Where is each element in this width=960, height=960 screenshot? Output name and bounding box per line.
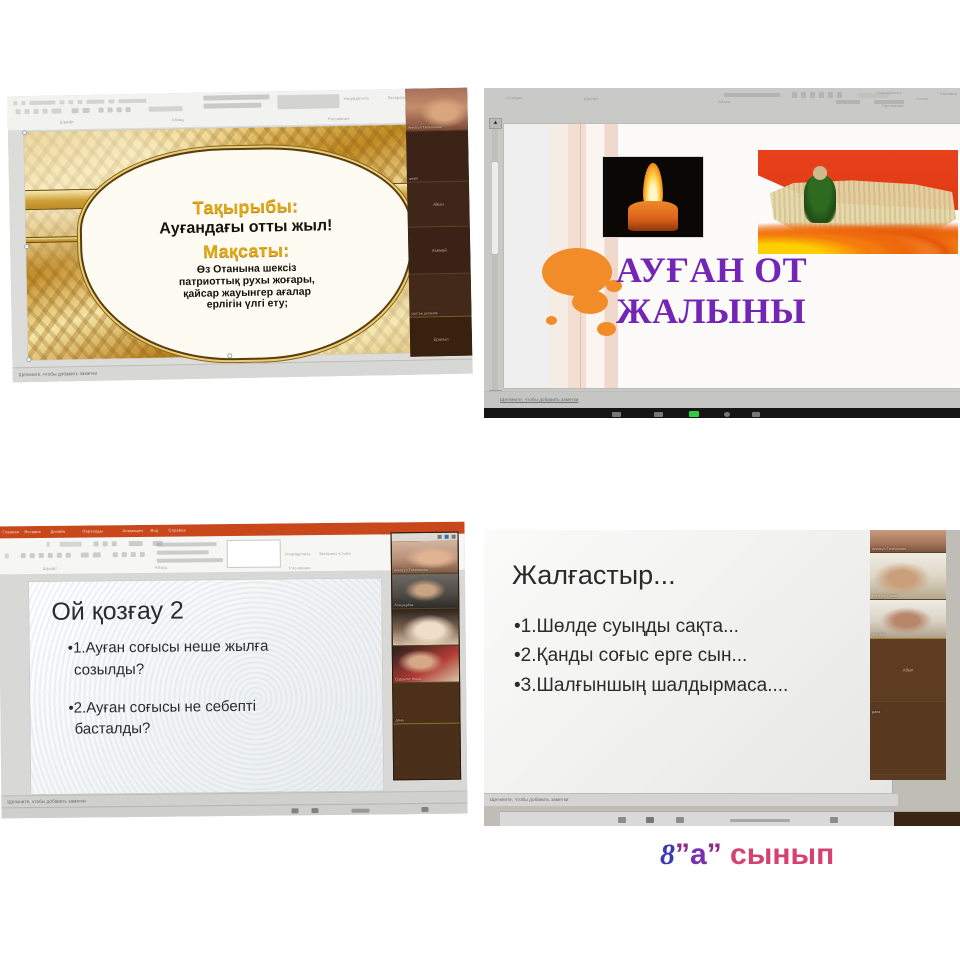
powerpoint-window-4: Жалғастыр... •1.Шөлде суыңды сақта... •2… <box>484 530 960 826</box>
fill-button-2[interactable]: Заливка <box>940 91 957 96</box>
ribbon-tab-animation[interactable]: Анимация <box>123 528 143 533</box>
taskbar-icon-circle[interactable] <box>724 412 730 417</box>
ribbon-tab-design[interactable]: Дизайн <box>51 529 66 534</box>
participant-name: Жандос <box>872 633 885 637</box>
notes-placeholder-1: Щелкните, чтобы добавить заметки <box>19 371 98 378</box>
taskbar-icon-view-sorter[interactable] <box>646 817 654 823</box>
participant-video <box>870 553 946 599</box>
notes-bar-1[interactable]: Щелкните, чтобы добавить заметки <box>12 359 472 383</box>
participant-tile[interactable]: Ерназар Самат <box>870 553 946 600</box>
ribbon-tab-insert[interactable]: Вставка <box>25 529 41 534</box>
participant-tile[interactable]: Айын <box>392 609 458 647</box>
decor-circle-medium <box>572 290 608 314</box>
decor-circle-large <box>542 248 612 296</box>
scroll-up-button-2[interactable]: ▲ <box>489 118 502 129</box>
taskbar-icon-fit-window[interactable] <box>830 817 838 823</box>
slide2-title-line-2: ЖАЛЫНЫ <box>616 293 807 330</box>
participant-name: Аннагүл Төлегенова <box>394 568 428 572</box>
slide3-list-item-1-cont: созылды? <box>68 657 269 681</box>
candle-photo <box>602 156 704 238</box>
ribbon-group-label-slides: Слайды <box>506 95 522 100</box>
slide4-list: •1.Шөлде суыңды сақта... •2.Қанды соғыс … <box>514 612 788 700</box>
caption-word: сынып <box>730 838 834 871</box>
participant-tile[interactable]: Аннагүл Төлегенова <box>392 541 458 575</box>
ribbon-group-label-paragraph: Абзац <box>718 99 730 104</box>
minimize-icon[interactable] <box>438 535 442 539</box>
taskbar-icon-view-normal[interactable] <box>291 808 298 813</box>
participant-tile[interactable]: Жандос <box>870 600 946 639</box>
participants-panel-1: Аннагүл Төлегенова шерті Айын Асемай сул… <box>405 88 472 357</box>
ribbon-tab-transitions[interactable]: Переходы <box>83 528 103 533</box>
taskbar-icon-view-sorter[interactable] <box>311 808 318 813</box>
fire-flames-icon <box>758 217 958 254</box>
participant-name: шерті <box>409 177 418 181</box>
arrange-button-1[interactable]: Упорядочить <box>343 95 369 100</box>
taskbar-icon-slideshow[interactable] <box>676 817 684 823</box>
participant-name: дана <box>872 710 880 714</box>
ribbon-group-label-paragraph-3: Абзац <box>155 565 167 570</box>
slide3-list-item-1: •1.Ауған соғысы неше жылға <box>68 636 269 660</box>
participant-name: Аннагүл Төлегенова <box>408 125 442 130</box>
bullet-icon: • <box>514 645 521 666</box>
slide2-title: АУҒАН ОТ ЖАЛЫНЫ <box>616 252 807 329</box>
taskbar-icon-clock[interactable] <box>612 412 621 417</box>
participant-name: Аннагүл Төлегенова <box>872 547 906 551</box>
slide1-goal-label: Мақсаты: <box>203 240 290 263</box>
slide4-list-item-1: •1.Шөлде суыңды сақта... <box>514 612 788 641</box>
slide2-title-line-1: АУҒАН ОТ <box>616 252 807 289</box>
participants-panel-4: Аннагүл Төлегенова Ерназар Самат Жандос … <box>870 530 946 780</box>
taskbar-overlap-dark <box>894 812 960 826</box>
participant-name: дана <box>396 718 404 722</box>
notes-bar-4[interactable]: Щелкните, чтобы добавить заметки <box>484 793 898 806</box>
powerpoint-window-3: Главная Вставка Дизайн Переходы Анимация… <box>0 522 468 819</box>
participant-name: Ерназар Самат <box>872 594 898 598</box>
slide1-topic-label: Тақырыбы: <box>192 196 298 219</box>
photo-collage: Шрифт Абзац Рисование Упорядочить Экспре… <box>0 0 960 960</box>
styles-button-2[interactable]: Стили <box>916 96 929 101</box>
taskbar-icon-view-normal[interactable] <box>618 817 626 823</box>
participant-tile[interactable]: дана <box>393 683 459 725</box>
notes-placeholder-3: Щелкните, чтобы добавить заметки <box>7 799 86 806</box>
slide3-list: •1.Ауған соғысы неше жылға созылды? •2.А… <box>68 636 270 741</box>
participants-panel-3: Аннагүл Төлегенова Алишербек Айын Ердаул… <box>391 532 462 781</box>
participant-name: Ерасыл <box>410 336 472 342</box>
slide4-list-item-2: •2.Қанды соғыс ерге сын... <box>514 641 788 670</box>
taskbar-icon-window[interactable] <box>654 412 663 417</box>
ribbon-group-label-font: Шрифт <box>584 96 598 101</box>
slide1-body-line-4: ерлігін үлгі ету; <box>179 298 315 312</box>
participant-tile[interactable]: дана <box>870 702 946 775</box>
caption-letter: a <box>690 838 707 871</box>
taskbar-2[interactable] <box>484 408 960 418</box>
scrollbar-thumb[interactable] <box>492 162 498 254</box>
taskbar-icon-fit[interactable] <box>421 807 428 812</box>
powerpoint-window-1: Шрифт Абзац Рисование Упорядочить Экспре… <box>7 88 472 383</box>
ribbon-group-label-font: Шрифт <box>60 119 74 124</box>
caption-number: 8 <box>660 838 675 871</box>
photo-slide-question: Главная Вставка Дизайн Переходы Анимация… <box>0 522 468 819</box>
participant-name: Асемай <box>408 247 470 253</box>
participant-tile[interactable]: Ерасыл <box>410 317 473 357</box>
bullet-icon: • <box>514 616 521 637</box>
ribbon-group-label-paragraph: Абзац <box>172 117 184 122</box>
slide1-body: Өз Отанына шексіз патриоттық рухы жоғары… <box>179 263 316 313</box>
photo-slide-title: Шрифт Абзац Рисование Упорядочить Экспре… <box>7 88 472 383</box>
participant-name: султан досанов <box>412 311 438 315</box>
express-styles-button-3[interactable]: Экспресс-стили <box>319 551 351 556</box>
powerpoint-window-2: Слайды Шрифт Абзац Рисование Упорядочить <box>484 88 960 418</box>
ribbon-2: Слайды Шрифт Абзац Рисование Упорядочить <box>484 88 960 120</box>
participant-tile[interactable]: султан досанов <box>409 274 472 318</box>
afghanistan-map-flag-fire-image <box>758 150 958 254</box>
photo-slide-afghan-flame: Слайды Шрифт Абзац Рисование Упорядочить <box>484 88 960 418</box>
ribbon-group-label-font-3: Шрифт <box>43 566 57 571</box>
class-caption: 8”a” сынып <box>660 838 834 872</box>
taskbar-icon-zoom[interactable] <box>351 809 369 813</box>
participant-tile[interactable]: Ердаулет Женіс <box>393 646 459 684</box>
notes-bar-2[interactable]: Щелкните, чтобы добавить заметки <box>484 391 960 408</box>
participant-name: Алишербек <box>394 603 413 607</box>
close-icon[interactable] <box>452 535 456 539</box>
scrollbar-vertical-2[interactable] <box>492 124 498 394</box>
participant-name: Ердаулет Женіс <box>395 677 422 681</box>
slide1-title: Ауғандағы отты жыл! <box>159 217 332 238</box>
selection-handle[interactable] <box>26 357 31 362</box>
ribbon-tab-help[interactable]: Справка <box>169 527 186 532</box>
photo-slide-continue: Жалғастыр... •1.Шөлде суыңды сақта... •2… <box>484 530 960 826</box>
participant-tile[interactable]: Аннагүл Төлегенова <box>870 530 946 553</box>
taskbar-icon-zoom-slider[interactable] <box>730 819 790 822</box>
participant-name: Айын <box>395 640 404 644</box>
participant-name: Абыл <box>870 668 946 673</box>
participant-name: Айын <box>407 201 469 207</box>
caption-quote-open: ” <box>675 838 690 871</box>
taskbar-icon-extra[interactable] <box>752 412 760 417</box>
slide3-heading: Ой қозғау 2 <box>51 597 184 627</box>
slide4-heading: Жалғастыр... <box>512 560 676 591</box>
participant-tile[interactable]: Алишербек <box>392 574 458 610</box>
ribbon-group-label-drawing-3: Рисование <box>289 565 311 570</box>
slide3-list-item-2: •2.Ауған соғысы не себепті <box>68 695 269 719</box>
selection-handle[interactable] <box>227 353 232 358</box>
caption-quote-close: ” <box>707 838 722 871</box>
taskbar-icon-app-active[interactable] <box>689 411 699 417</box>
arrange-button-2[interactable]: Упорядочить <box>876 90 902 95</box>
participant-tile[interactable]: Асемай <box>408 227 471 275</box>
candle-wax <box>628 201 678 231</box>
decor-circle-xs <box>597 322 616 336</box>
slide-canvas-3[interactable]: Ой қозғау 2 •1.Ауған соғысы неше жылға с… <box>29 578 383 794</box>
selection-handle[interactable] <box>22 130 27 135</box>
participant-tile[interactable]: шерті <box>406 131 469 183</box>
slide-canvas-2[interactable]: АУҒАН ОТ ЖАЛЫНЫ <box>504 124 960 388</box>
ribbon-group-label-drawing: Рисование <box>328 116 350 121</box>
notes-placeholder-2: Щелкните, чтобы добавить заметки <box>500 397 578 403</box>
maximize-icon[interactable] <box>445 535 449 539</box>
ribbon-tab-home[interactable]: Главная <box>3 529 20 534</box>
slide-canvas-4[interactable]: Жалғастыр... •1.Шөлде суыңды сақта... •2… <box>484 530 892 798</box>
ribbon-tab-view[interactable]: Вид <box>151 528 159 533</box>
taskbar-4[interactable] <box>500 811 960 826</box>
decor-circle-tiny <box>546 316 557 325</box>
slide4-list-item-3: •3.Шалғыншың шалдырмаса.... <box>514 671 788 700</box>
selection-handle[interactable] <box>24 244 29 249</box>
participant-tile[interactable]: Айын <box>407 182 470 228</box>
bullet-icon: • <box>514 675 521 696</box>
notes-placeholder-4: Щелкните, чтобы добавить заметки <box>490 797 568 803</box>
slide-canvas-1[interactable]: Тақырыбы: Ауғандағы отты жыл! Мақсаты: Ө… <box>24 124 432 360</box>
slide3-list-item-2-cont: басталды? <box>69 717 270 741</box>
participant-tile[interactable]: Абыл <box>870 639 946 702</box>
participant-tile[interactable]: Аннагүл Төлегенова <box>405 88 468 132</box>
arrange-button-3[interactable]: Упорядочить <box>285 551 311 556</box>
